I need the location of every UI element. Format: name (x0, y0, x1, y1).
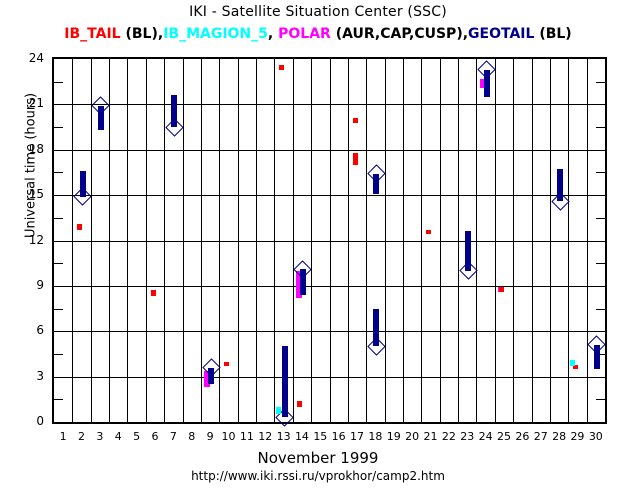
chart-page: IKI - Satellite Situation Center (SSC) I… (0, 0, 636, 500)
y-minor-tick (596, 263, 605, 264)
y-tick-label: 9 (8, 278, 44, 292)
y-minor-tick (54, 354, 63, 355)
y-minor-tick (54, 127, 63, 128)
plot-area (52, 57, 607, 424)
ib-tail-dot (279, 65, 284, 70)
ib-tail-dot (77, 224, 82, 230)
y-minor-tick (54, 263, 63, 264)
grid-hline (54, 150, 605, 151)
geotail-bar (282, 346, 288, 417)
y-tick-label: 3 (8, 369, 44, 383)
y-tick-label: 6 (8, 323, 44, 337)
y-tick-label: 15 (8, 187, 44, 201)
plot-grid-and-marks (54, 59, 605, 422)
legend-token-2: IB_MAGION_5 (163, 26, 268, 42)
geotail-diamond-marker (588, 336, 606, 354)
ib-tail-dot (297, 401, 302, 407)
y-tick-label: 18 (8, 142, 44, 156)
y-minor-tick (596, 399, 605, 400)
y-tick-label: 12 (8, 233, 44, 247)
y-tick-label: 24 (8, 51, 44, 65)
geotail-diamond-marker (477, 60, 495, 78)
y-minor-tick (54, 399, 63, 400)
y-minor-tick (596, 309, 605, 310)
page-title: IKI - Satellite Situation Center (SSC) (0, 4, 636, 20)
chart-subtitle-legend: IB_TAIL (BL),IB_MAGION_5, POLAR (AUR,CAP… (0, 26, 636, 42)
grid-hline (54, 331, 605, 332)
y-tick-label: 0 (8, 414, 44, 428)
grid-hline (54, 377, 605, 378)
ib-magion-5-dot (276, 407, 281, 415)
y-minor-tick (596, 218, 605, 219)
legend-token-0: IB_TAIL (64, 26, 125, 42)
y-minor-tick (54, 82, 63, 83)
legend-token-6: GEOTAIL (468, 26, 539, 42)
ib-tail-dot (353, 153, 358, 165)
y-minor-tick (54, 172, 63, 173)
y-minor-tick (596, 82, 605, 83)
ib-magion-5-dot (570, 360, 575, 366)
footer-url: http://www.iki.rssi.ru/vprokhor/camp2.ht… (0, 469, 636, 483)
y-minor-tick (54, 218, 63, 219)
grid-hline (54, 104, 605, 105)
geotail-diamond-marker (367, 337, 385, 355)
y-tick-label: 21 (8, 96, 44, 110)
ib-tail-dot (224, 362, 229, 367)
grid-hline (54, 195, 605, 196)
x-axis-title: November 1999 (0, 449, 636, 467)
x-tick-label: 30 (581, 430, 611, 443)
y-minor-tick (596, 127, 605, 128)
ib-tail-dot (353, 118, 358, 123)
geotail-diamond-marker (165, 118, 183, 136)
legend-token-3: , (268, 26, 278, 42)
grid-hline (54, 241, 605, 242)
y-minor-tick (54, 309, 63, 310)
legend-token-1: (BL), (125, 26, 163, 42)
y-minor-tick (596, 172, 605, 173)
geotail-diamond-marker (367, 165, 385, 183)
geotail-diamond-marker (459, 262, 477, 280)
legend-token-7: (BL) (539, 26, 571, 42)
geotail-diamond-marker (92, 97, 110, 115)
ib-tail-dot (499, 287, 504, 292)
ib-tail-dot (151, 290, 156, 296)
geotail-diamond-marker (73, 187, 91, 205)
legend-token-4: POLAR (278, 26, 336, 42)
ib-tail-dot (426, 230, 431, 235)
legend-token-5: (AUR,CAP,CUSP), (336, 26, 468, 42)
grid-hline (54, 286, 605, 287)
